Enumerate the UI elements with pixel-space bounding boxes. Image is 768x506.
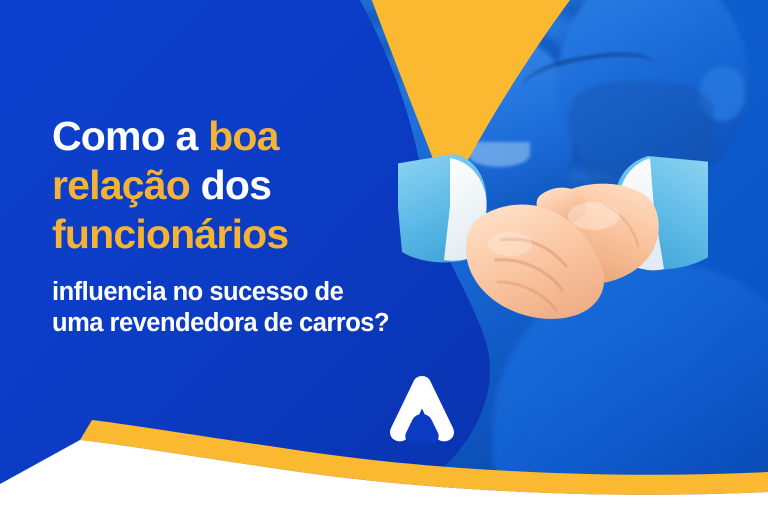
headline-word-como-a: Como a xyxy=(52,113,208,159)
headline-word-funcionarios: funcionários xyxy=(52,211,288,257)
subhead-line-1: influencia no sucesso de xyxy=(52,278,343,306)
bottom-yellow-band xyxy=(0,396,768,506)
brand-logo-a-chevron-icon xyxy=(385,370,459,446)
page-subtitle: influencia no sucesso de uma revendedora… xyxy=(52,277,472,339)
subhead-line-2: uma revendedora de carros? xyxy=(52,309,389,337)
headline-word-relacao: relação xyxy=(52,162,190,208)
page-title: Como a boa relação dos funcionários xyxy=(52,112,452,259)
marketing-banner: Como a boa relação dos funcionários infl… xyxy=(0,0,768,506)
headline-word-dos: dos xyxy=(190,162,271,208)
headline-word-boa: boa xyxy=(208,113,279,159)
